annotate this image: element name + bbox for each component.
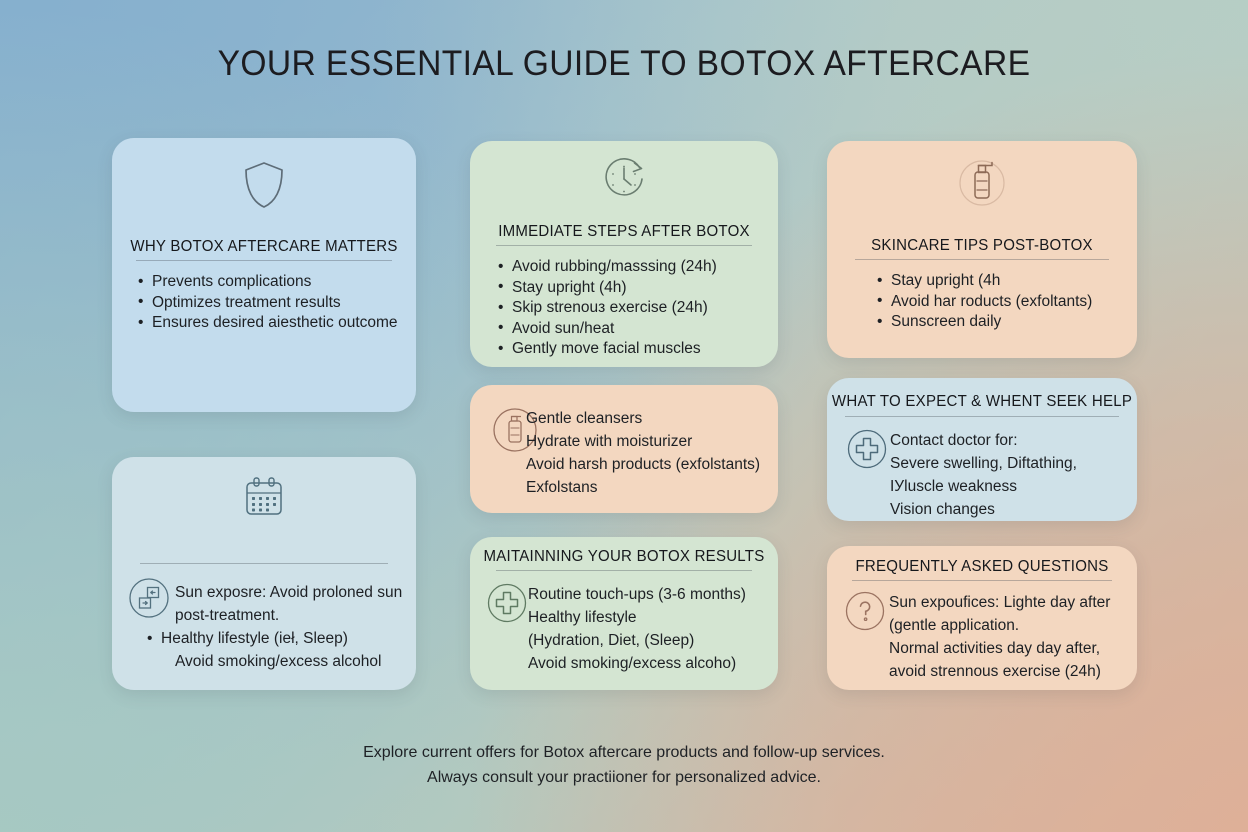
list-item: Healthy lifestyle (ieł, Sleep) [147,627,402,650]
heading-divider [496,570,752,571]
card-maintaining-results[interactable]: MAITAINNING YOUR BOTOX RESULTS Routine t… [470,537,778,690]
list-item: Avoid smoking/excess alcoho) [528,652,746,675]
list-item: Sun exposre: Avoid proloned sun [161,581,402,604]
list-item: Optimizes treatment results [138,293,398,314]
clock-history-icon [598,153,650,205]
list-item: Sun expoufices: Lighte day after [889,591,1110,614]
heading-divider [136,260,392,261]
card-heading: WHAT TO EXPECT & WHENT SEEK HELP [832,393,1133,411]
list-item: Normal activities day day after, [889,637,1110,660]
list-item: Skip strenouз exercise (24h) [498,298,717,319]
list-item: Avoid smoking/excess alcohol [161,650,402,673]
list-item: Healthy lifestyle [528,606,746,629]
card-heading: WHY BOTOX AFTERCARE MATTERS [117,238,412,256]
card-what-to-expect[interactable]: WHAT TO EXPECT & WHENT SEEK HELP Contact… [827,378,1137,521]
list-item: Ensures desired aiesthetic outcome [138,313,398,334]
heading-divider [852,580,1112,581]
list-item: Avoid rubbing/masssing (24h) [498,257,717,278]
bullet-list: Stay upright (4h Avoid har roducts (exfo… [877,271,1092,333]
bullet-list: Avoid rubbing/masssing (24h) Stay uprigh… [498,257,717,360]
heading-divider [140,563,388,564]
list-item: Gentle cleansers [526,407,760,430]
list-item: Avoid harsh products (exfolstants) [526,453,760,476]
list-item: (Hydration, Diet, (Sleep) [528,629,746,652]
text-lines: Routine touch-ups (3-6 months) Healthy l… [528,583,746,675]
list-item: Severe swelling, Diftathing, [890,452,1077,475]
heading-divider [496,245,752,246]
list-item: (gentle application. [889,614,1110,637]
list-item: IУluscle weakness [890,475,1077,498]
card-why-aftercare-matters[interactable]: WHY BOTOX AFTERCARE MATTERS Prevents com… [112,138,416,412]
list-item: Sunscreen daily [877,312,1092,333]
text-lines: Sun exposre: Avoid proloned sun post-tre… [161,581,402,673]
heading-divider [855,259,1109,260]
card-long-term-care[interactable]: Sun exposre: Avoid proloned sun post-tre… [112,457,416,690]
question-circle-icon [845,591,885,631]
shield-icon-wrap [112,160,416,210]
pump-bottle-icon [954,153,1010,209]
list-item: Avoid har roducts (exfoltants) [877,292,1092,313]
card-immediate-steps[interactable]: IMMEDIATE STEPS AFTER BOTOX Avoid rubbin… [470,141,778,367]
footer-line-1: Explore current offers for Botox afterca… [0,740,1248,765]
text-lines: Sun expoufices: Lighte day after (gentle… [889,591,1110,683]
list-item: Vision changes [890,498,1077,521]
list-item: Prevents complications [138,272,398,293]
list-item: avoid strennous exercise (24h) [889,660,1110,683]
infographic-canvas: YOUR ESSENTIAL GUIDE TO BOTOX AFTERCARE … [0,0,1248,832]
card-heading: MAITAINNING YOUR BOTOX RESULTS [475,548,774,566]
list-item: Routine touch-ups (3-6 months) [528,583,746,606]
medical-cross-circle-icon [487,583,527,623]
list-item: Hydrate with moisturizer [526,430,760,453]
card-heading: FREQUENTLY ASKED QUESTIONS [832,558,1133,576]
text-lines: Contact doctor for: Severe swelling, Dif… [890,429,1077,521]
card-faq[interactable]: FREQUENTLY ASKED QUESTIONS Sun expoufice… [827,546,1137,690]
calendar-icon [238,474,290,524]
calendar-icon-wrap [112,474,416,524]
footer-line-2: Always consult your practiioner for pers… [0,765,1248,790]
pump-bottle-icon-wrap [827,153,1137,209]
card-skincare-tips[interactable]: SKINCARE TIPS POST-BOTOX Stay upright (4… [827,141,1137,358]
list-item: Avoid sun/heat [498,319,717,340]
page-title: YOUR ESSENTIAL GUIDE TO BOTOX AFTERCARE [25,44,1223,84]
card-heading: IMMEDIATE STEPS AFTER BOTOX [475,223,774,241]
text-lines: Gentle cleansers Hydrate with moisturize… [526,407,760,499]
heading-divider [845,416,1119,417]
shield-icon [242,160,286,210]
card-gentle-cleansers[interactable]: Gentle cleansers Hydrate with moisturize… [470,385,778,513]
bullet-list: Prevents complications Optimizes treatme… [138,272,398,334]
list-item: Contact doctor for: [890,429,1077,452]
list-item: Stay upright (4h) [498,278,717,299]
list-item: Gently move facial muscles [498,339,717,360]
list-item: Exfolstans [526,476,760,499]
clock-history-icon-wrap [470,153,778,205]
card-heading: SKINCARE TIPS POST-BOTOX [832,237,1133,255]
list-item: post-treatment. [161,604,402,627]
list-item: Stay upright (4h [877,271,1092,292]
medical-cross-circle-icon [847,429,887,469]
footer: Explore current offers for Botox afterca… [0,740,1248,790]
